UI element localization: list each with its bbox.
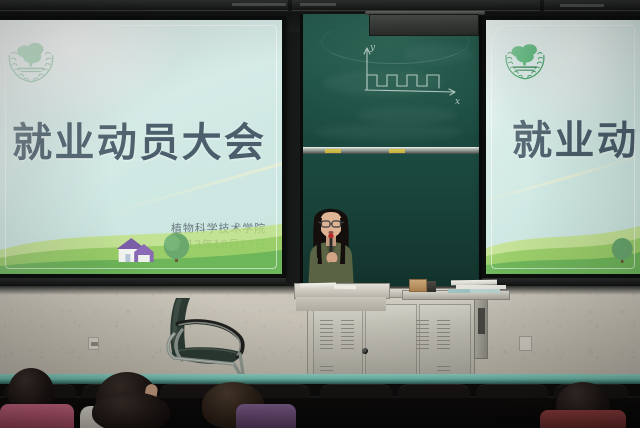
ceiling-light-strip-3 [560,4,604,7]
ceiling-light-strip-2 [300,3,336,6]
slide-right: 就业动 [486,20,640,274]
tree-wreath-emblem-icon [502,36,548,82]
audience-head-3 [92,392,170,428]
square-wave-diagram: y x [355,42,475,110]
slide-landscape-left [0,220,282,274]
dark-box-item [427,281,436,292]
slide-landscape-right [486,220,640,274]
lectern-front-face [296,297,386,311]
audience-top-1 [0,404,74,428]
cardboard-box [409,279,427,292]
audience-top-5 [540,410,626,428]
slide-title-left: 就业动员大会 [12,110,266,168]
books-stack-4 [470,289,500,293]
projection-screen-right: 就业动 [482,16,640,278]
slide-title-right: 就业动 [512,108,639,166]
axis-y-label: y [369,43,376,53]
rail-label-1 [325,149,341,153]
screen-valance [369,14,479,36]
rail-label-2 [389,149,405,153]
console-lock-knob[interactable] [362,348,368,354]
papers-stack-2 [334,285,356,289]
slide-left: 就业动员大会 植物科学技术学院 2013年10月17日 [0,20,282,274]
console-side-panel [474,299,488,359]
cantilever-armchair [148,294,260,380]
tree-wreath-emblem-icon [4,32,58,86]
audience-top-4 [236,404,296,428]
blackboard-smudge-3 [313,124,463,140]
ceiling-light-strip-1 [232,3,286,6]
lecture-hall-photo: y x [0,0,640,428]
wall-socket-icon [88,337,99,350]
chalk-rail [303,147,482,154]
projection-screen-left: 就业动员大会 植物科学技术学院 2013年10月17日 [0,16,286,278]
console-door-mid[interactable] [365,304,417,384]
presenter-at-podium [296,198,366,290]
axis-x-label: x [455,97,460,107]
wall-socket-icon-2 [519,336,532,351]
student-desk-row-1 [0,374,640,384]
papers-stack [300,283,336,289]
